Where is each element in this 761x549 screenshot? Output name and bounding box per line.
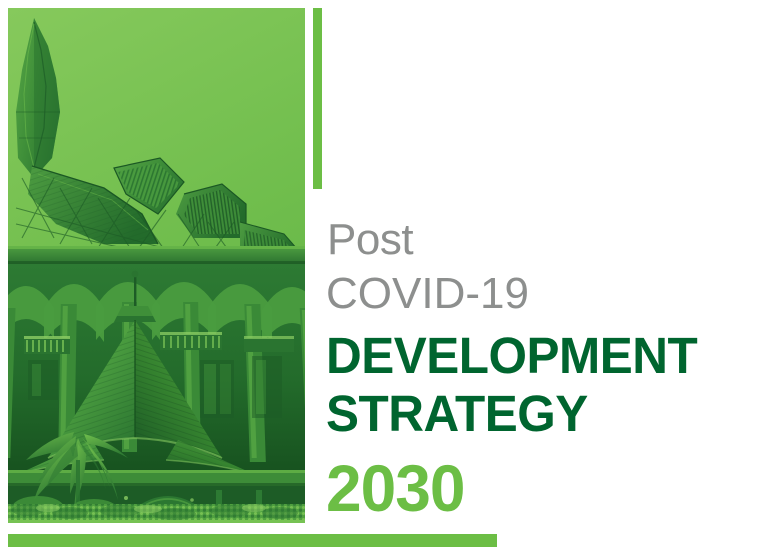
hero-photo-illustration — [8, 8, 305, 523]
report-cover-page: Post COVID-19 DEVELOPMENT STRATEGY 2030 — [0, 0, 761, 549]
title-line-year: 2030 — [326, 453, 733, 523]
title-line-strategy: STRATEGY — [326, 385, 733, 443]
hero-photo — [8, 8, 305, 523]
cover-title-block: Post COVID-19 DEVELOPMENT STRATEGY 2030 — [326, 213, 746, 523]
accent-bar-bottom — [8, 534, 497, 547]
title-line-post: Post — [327, 213, 746, 267]
title-line-development: DEVELOPMENT — [326, 327, 733, 385]
title-line-covid: COVID-19 — [326, 267, 746, 321]
accent-bar-vertical — [313, 8, 322, 189]
